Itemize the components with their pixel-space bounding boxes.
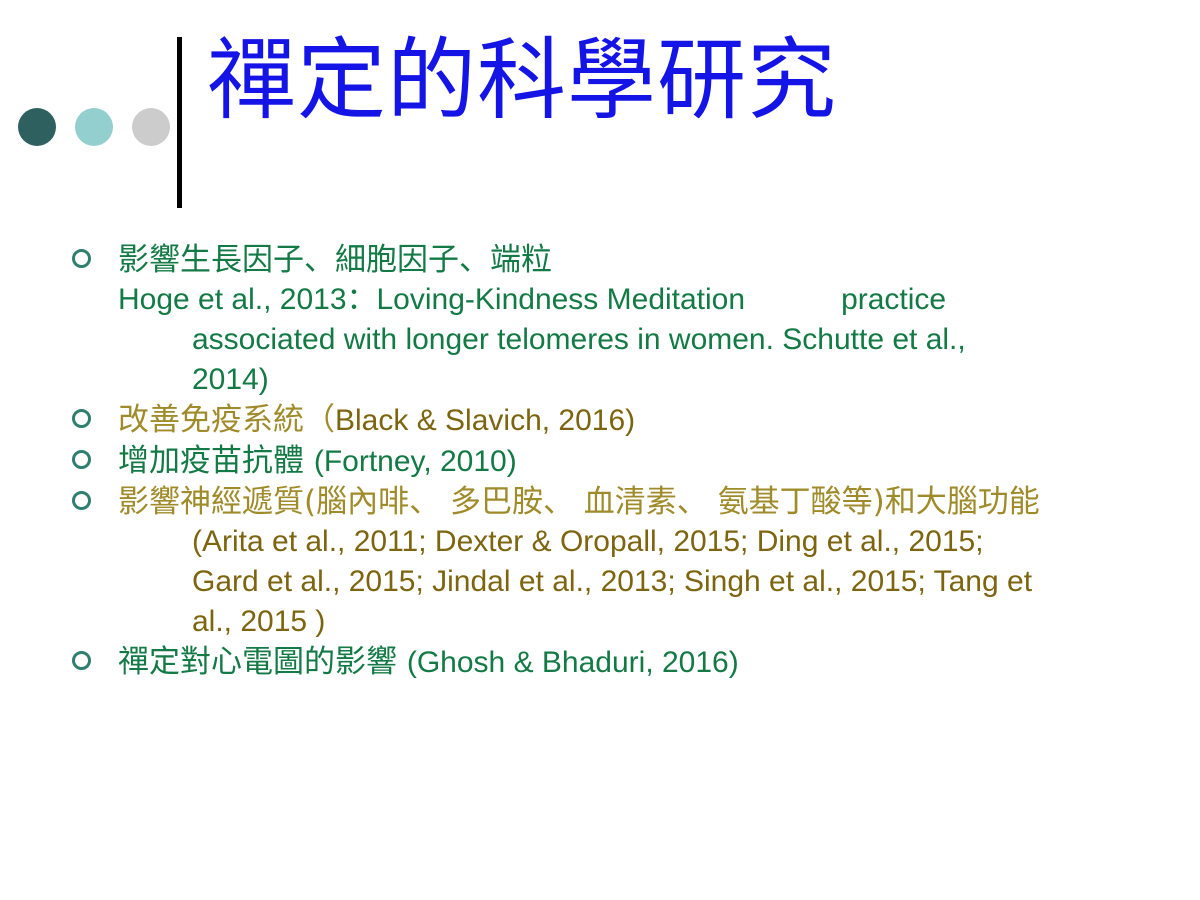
dot-light-teal-icon [75, 108, 113, 146]
bullet-list: 影響生長因子、細胞因子、端粒 Hoge et al., 2013：Loving-… [60, 240, 1170, 683]
bullet-1-cont-1-trailing: practice [841, 283, 946, 316]
bullet-5-text-latin: (Ghosh & Bhaduri, 2016) [407, 646, 739, 679]
decorative-dots [18, 108, 170, 146]
list-item: 影響生長因子、細胞因子、端粒 Hoge et al., 2013：Loving-… [60, 240, 1170, 400]
circle-outline-bullet-icon [60, 400, 118, 440]
list-item: 影響神經遞質(腦內啡、 多巴胺、 血清素、 氨基丁酸等)和大腦功能 (Arita… [60, 482, 1170, 642]
list-item: 禪定對心電圖的影響 (Ghosh & Bhaduri, 2016) [60, 642, 1170, 683]
bullet-5-text-cjk: 禪定對心電圖的影響 [118, 644, 407, 680]
bullet-2-line: 改善免疫系統（Black & Slavich, 2016) [118, 400, 1170, 441]
bullet-5-line: 禪定對心電圖的影響 (Ghosh & Bhaduri, 2016) [118, 642, 1170, 683]
dot-gray-icon [132, 108, 170, 146]
bullet-4-text: 影響神經遞質(腦內啡、 多巴胺、 血清素、 氨基丁酸等)和大腦功能 [118, 482, 1170, 522]
circle-outline-bullet-icon [60, 441, 118, 481]
bullet-1-continuation-line-2: associated with longer telomeres in wome… [118, 320, 1170, 360]
bullet-1-cont-1-main: Hoge et al., 2013：Loving-Kindness Medita… [118, 283, 745, 316]
bullet-4-continuation-line-2: Gard et al., 2015; Jindal et al., 2013; … [118, 562, 1170, 602]
bullet-4-continuation-line-3: al., 2015 ) [118, 602, 1170, 642]
circle-outline-bullet-icon [60, 642, 118, 682]
bullet-2-text-latin: Black & Slavich, 2016) [335, 404, 635, 437]
bullet-1-text: 影響生長因子、細胞因子、端粒 [118, 240, 1170, 280]
list-item: 增加疫苗抗體 (Fortney, 2010) [60, 441, 1170, 482]
bullet-2-text-cjk: 改善免疫系統（ [118, 402, 335, 438]
dot-dark-teal-icon [18, 108, 56, 146]
bullet-1-continuation-line-3: 2014) [118, 360, 1170, 400]
circle-outline-bullet-icon [60, 482, 118, 522]
bullet-3-text-latin: (Fortney, 2010) [314, 445, 517, 478]
bullet-3-text-cjk: 增加疫苗抗體 [118, 443, 314, 479]
list-item: 改善免疫系統（Black & Slavich, 2016) [60, 400, 1170, 441]
bullet-1-continuation-line-1: Hoge et al., 2013：Loving-Kindness Medita… [118, 280, 1170, 320]
bullet-3-line: 增加疫苗抗體 (Fortney, 2010) [118, 441, 1170, 482]
slide-canvas: 禪定的科學研究 影響生長因子、細胞因子、端粒 Hoge et al., 2013… [0, 0, 1200, 900]
circle-outline-bullet-icon [60, 240, 118, 280]
page-title: 禪定的科學研究 [207, 26, 837, 135]
bullet-4-continuation-line-1: (Arita et al., 2011; Dexter & Oropall, 2… [118, 522, 1170, 562]
title-vertical-rule [177, 37, 182, 208]
